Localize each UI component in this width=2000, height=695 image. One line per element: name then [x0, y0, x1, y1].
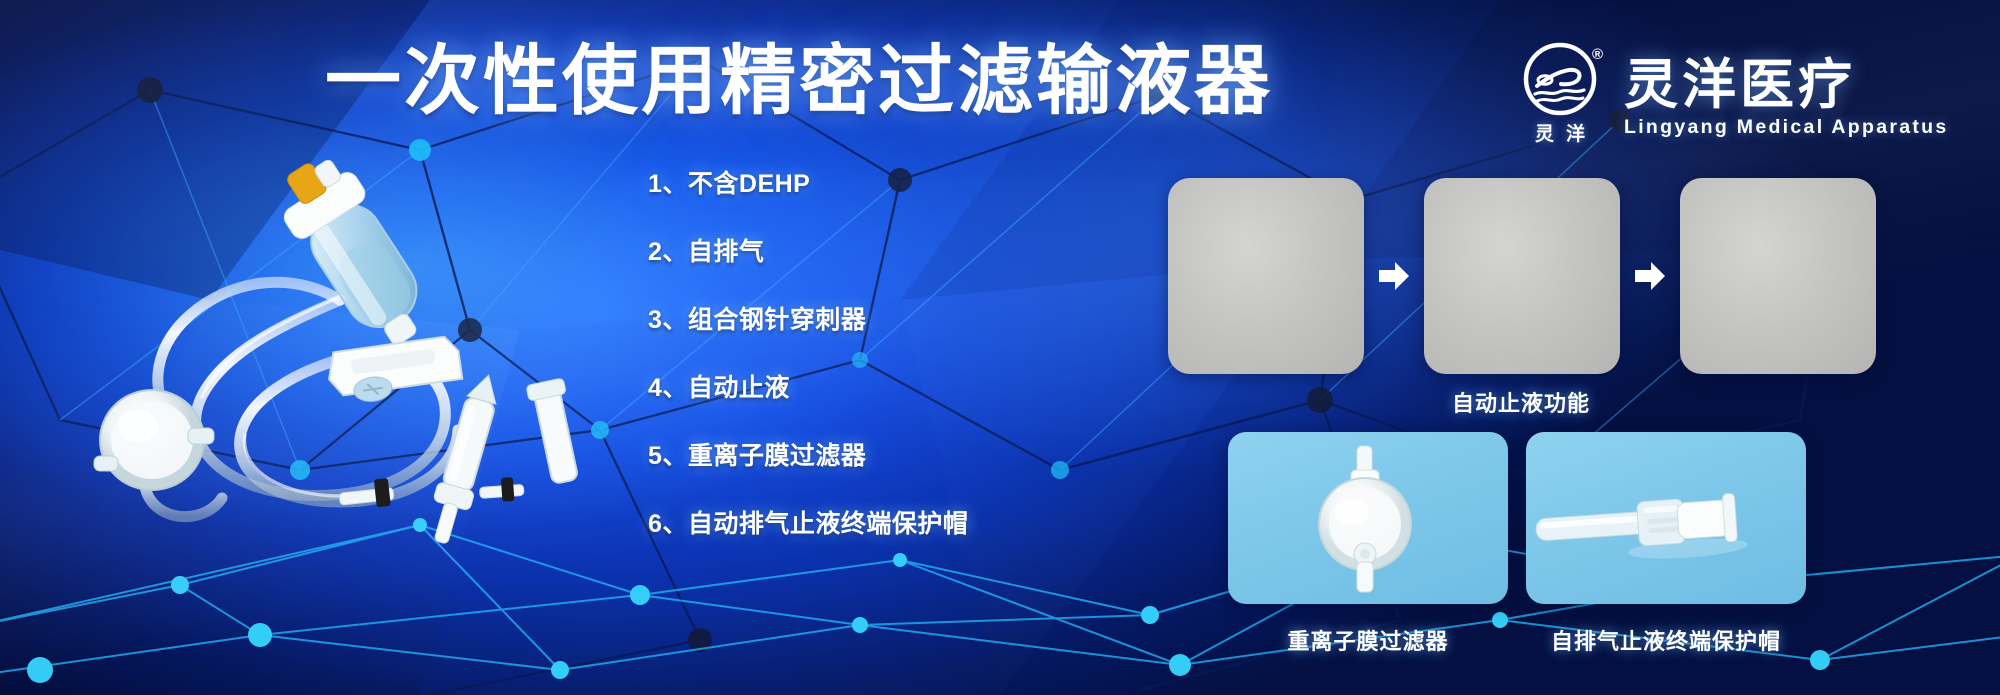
right-arrow-icon: [1633, 259, 1667, 293]
feature-item-1: 1、不含DEHP: [648, 172, 978, 197]
company-name-cn: 灵洋医疗: [1624, 57, 1949, 114]
feature-item-5: 5、重离子膜过滤器: [648, 444, 978, 469]
auto-stop-demo-strip: [1168, 178, 1876, 374]
feature-list: 1、不含DEHP 2、自排气 3、组合钢针穿刺器 4、自动止液 5、重离子膜过滤…: [648, 172, 978, 537]
auto-stop-step-3: [1680, 178, 1876, 374]
registered-trademark-icon: ®: [1592, 46, 1603, 63]
caption-heavy-ion-filter: 重离子膜过滤器: [1228, 624, 1508, 656]
demo-strip-caption: 自动止液功能: [1452, 386, 1590, 418]
arrow-gap-2: [1620, 259, 1680, 293]
detail-photo-captions: 重离子膜过滤器 自排气止液终端保护帽: [1228, 624, 1806, 656]
brand-logo: ® 灵洋 灵洋医疗 Lingyang Medical Apparatus: [1516, 42, 1949, 154]
end-cap-photo: [1526, 432, 1806, 604]
filter-device-photo: [1228, 432, 1508, 604]
company-name-en: Lingyang Medical Apparatus: [1624, 116, 1949, 139]
auto-stop-step-1: [1168, 178, 1364, 374]
heavy-ion-membrane-filter: [1228, 432, 1508, 604]
page-title: 一次性使用精密过滤输液器: [325, 44, 1273, 120]
product-banner: 一次性使用精密过滤输液器 ® 灵洋 灵洋医疗 Lingyang Medical …: [0, 0, 2000, 695]
emblem-icon: [1523, 42, 1597, 116]
feature-item-6: 6、自动排气止液终端保护帽: [648, 512, 978, 537]
right-arrow-icon: [1377, 259, 1411, 293]
auto-stop-step-2: [1424, 178, 1620, 374]
emblem-subtext: 灵洋: [1523, 119, 1597, 146]
feature-item-3: 3、组合钢针穿刺器: [648, 308, 978, 333]
infusion-set-product-photo: [40, 150, 660, 550]
auto-vent-stop-end-cap: [1526, 432, 1806, 604]
caption-end-cap: 自排气止液终端保护帽: [1526, 624, 1806, 656]
feature-item-4: 4、自动止液: [648, 376, 978, 401]
detail-photo-row: [1228, 432, 1806, 604]
feature-item-2: 2、自排气: [648, 240, 978, 265]
arrow-gap-1: [1364, 259, 1424, 293]
lingyang-circular-emblem: ® 灵洋: [1516, 42, 1604, 154]
